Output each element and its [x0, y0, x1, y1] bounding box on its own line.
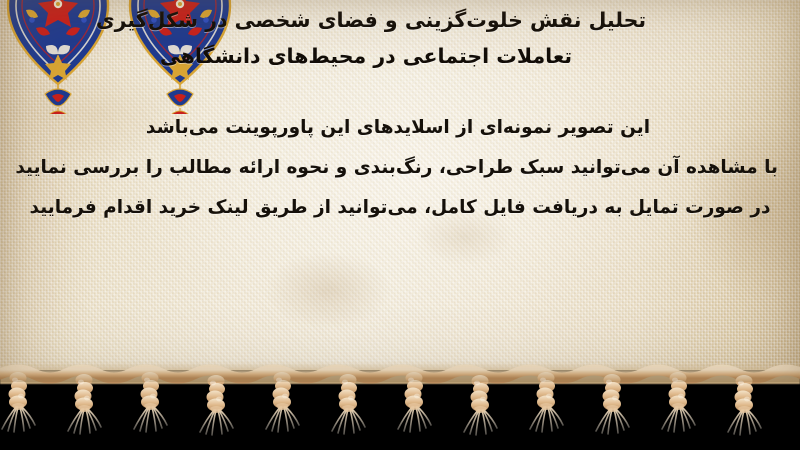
slide-title-line-1: تحلیل نقش خلوت‌گزینی و فضای شخصی در شکل‌…	[20, 2, 782, 38]
slide-title-line-2: تعاملات اجتماعی در محیط‌های دانشگاهی	[20, 38, 782, 74]
slide-body-line-1: این تصویر نمونه‌ای از اسلایدهای این پاور…	[22, 108, 778, 148]
slide-body: این تصویر نمونه‌ای از اسلایدهای این پاور…	[22, 108, 778, 228]
slide-body-line-3: در صورت تمایل به دریافت فایل کامل، می‌تو…	[22, 188, 778, 228]
presentation-slide: تحلیل نقش خلوت‌گزینی و فضای شخصی در شکل‌…	[0, 0, 800, 450]
slide-body-line-2: با مشاهده آن می‌توانید سبک طراحی، رنگ‌بن…	[22, 148, 778, 188]
slide-title: تحلیل نقش خلوت‌گزینی و فضای شخصی در شکل‌…	[20, 2, 782, 74]
carpet-bottom-edge	[0, 362, 800, 384]
